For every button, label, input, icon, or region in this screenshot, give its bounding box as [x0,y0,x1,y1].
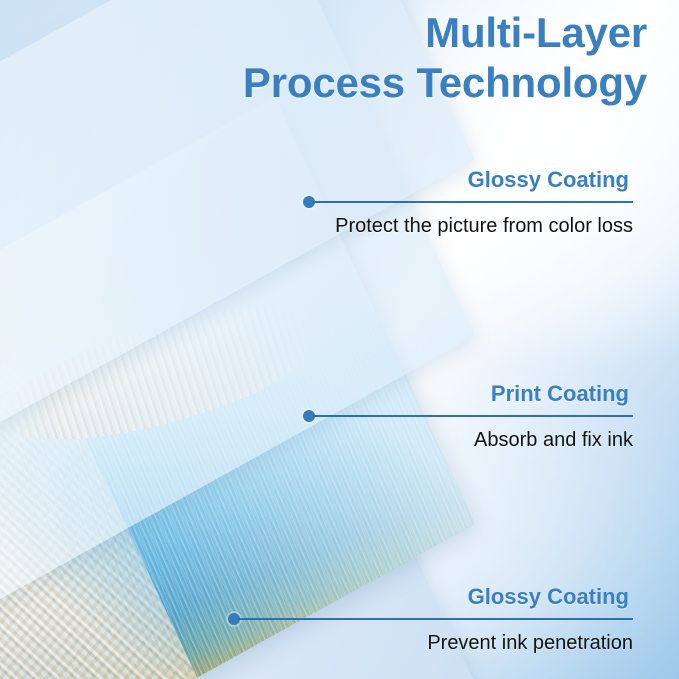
callout-description: Absorb and fix ink [303,423,633,454]
title-line-1: Multi-Layer [425,9,647,56]
page-title: Multi-Layer Process Technology [107,8,647,108]
leader-bar [313,201,633,203]
callout-description: Prevent ink penetration [228,626,633,657]
leader-bar [313,415,633,417]
product-infographic: Multi-Layer Process Technology Glossy Co… [0,0,679,679]
callout-leader-line [303,195,633,209]
callout-leader-line [303,409,633,423]
callout-print-coating: Print Coating Absorb and fix ink [303,380,633,454]
leader-bar [238,618,633,620]
callout-heading: Print Coating [303,380,633,408]
callout-description: Protect the picture from color loss [303,209,633,240]
callout-glossy-coating-top: Glossy Coating Protect the picture from … [303,166,633,240]
callout-glossy-coating-bottom: Glossy Coating Prevent ink penetration [228,583,633,657]
callout-heading: Glossy Coating [303,166,633,194]
callout-heading: Glossy Coating [228,583,633,611]
title-line-2: Process Technology [107,58,647,108]
callout-leader-line [228,612,633,626]
